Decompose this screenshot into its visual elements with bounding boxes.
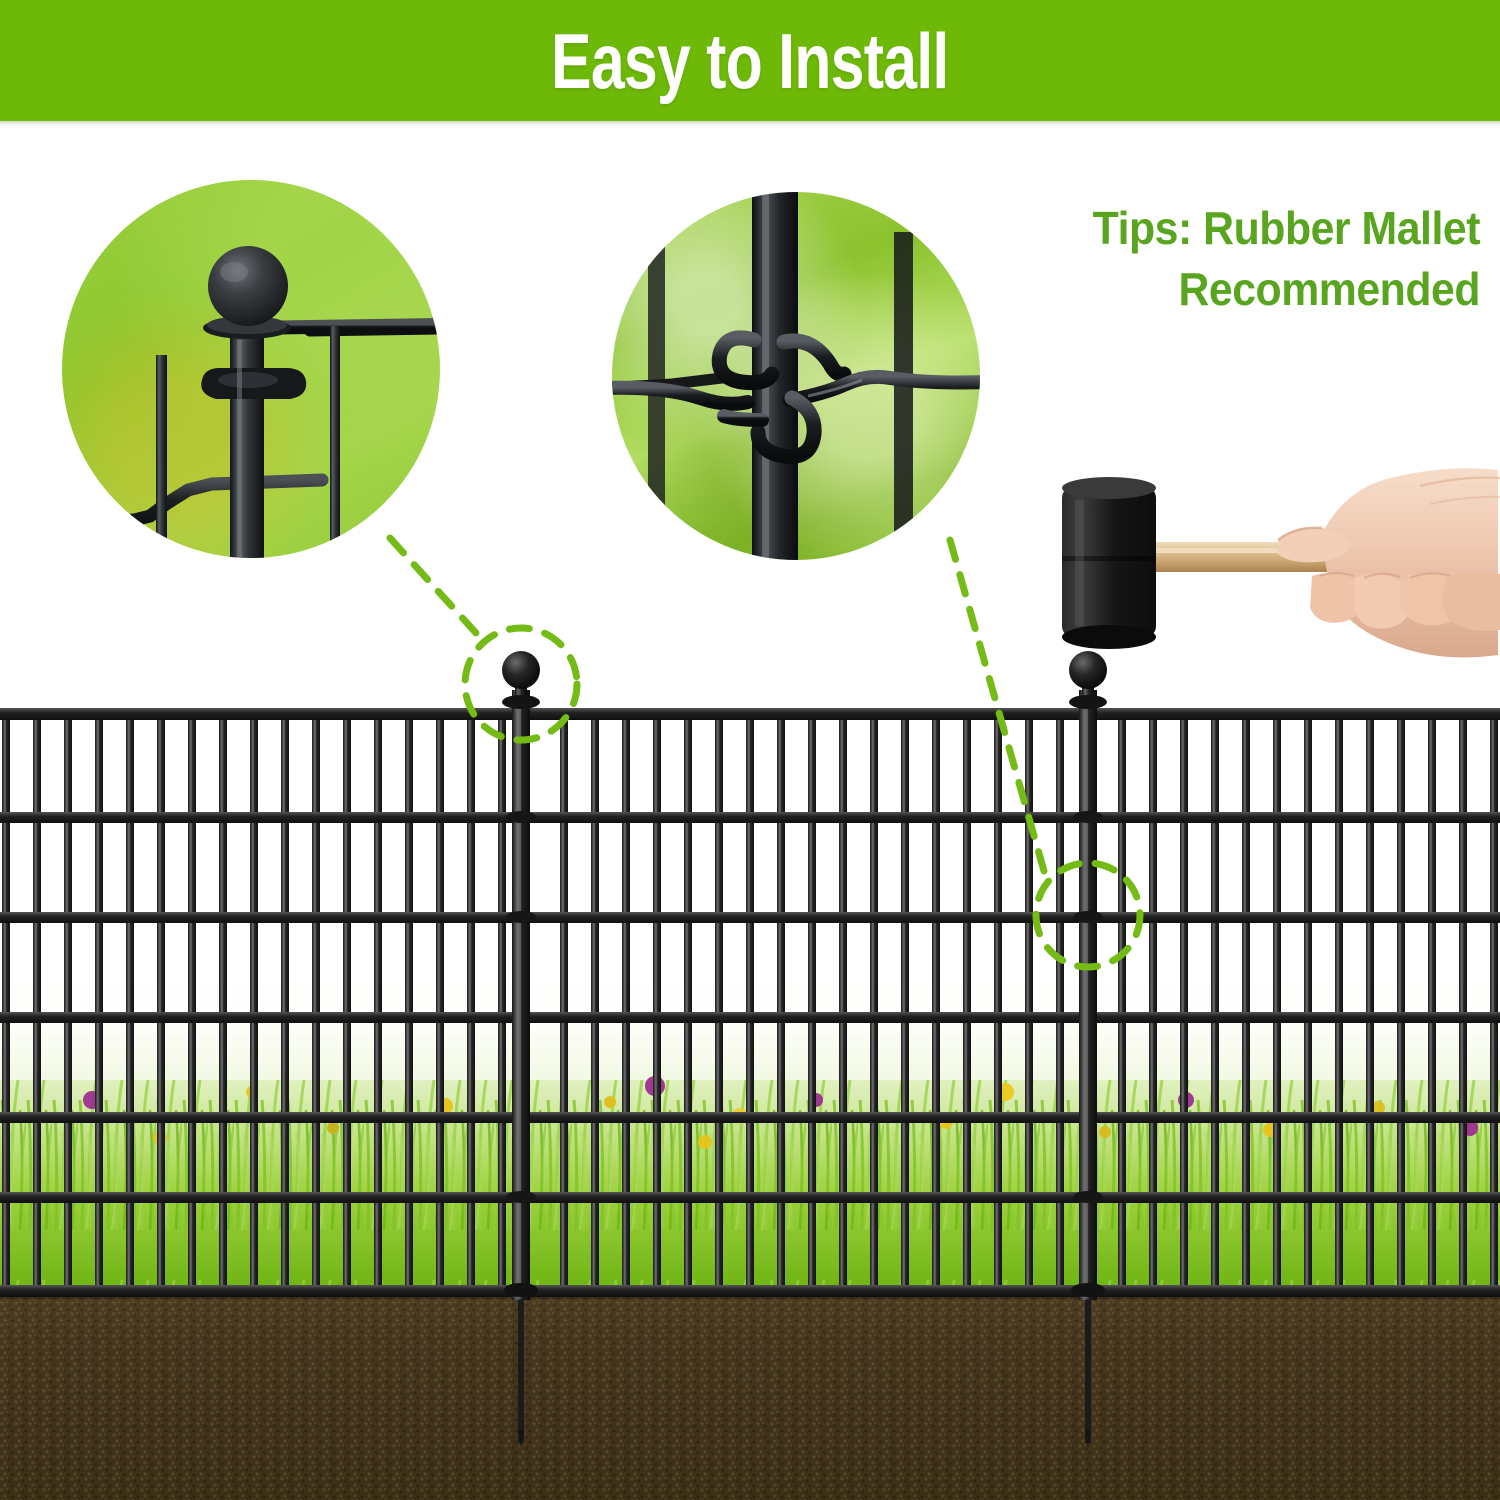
inset-s-hook-photo	[612, 192, 980, 560]
s-hook-illustration	[612, 192, 980, 560]
fence-scene	[0, 630, 1500, 1500]
tips-text: Tips: Rubber Mallet Recommended	[1015, 198, 1480, 319]
inset-finial-photo	[62, 180, 440, 558]
tips-line-2: Recommended	[1015, 259, 1480, 320]
fence-illustration	[0, 630, 1500, 1500]
infographic-canvas: Easy to Install Tips: Rubber Mallet Reco…	[0, 0, 1500, 1500]
finial-illustration	[62, 180, 440, 558]
fence-pickets	[2, 710, 1498, 1295]
banner-divider	[0, 121, 1500, 126]
page-title: Easy to Install	[551, 22, 948, 100]
tips-line-1: Tips: Rubber Mallet	[1015, 198, 1480, 259]
header-banner: Easy to Install	[0, 0, 1500, 121]
